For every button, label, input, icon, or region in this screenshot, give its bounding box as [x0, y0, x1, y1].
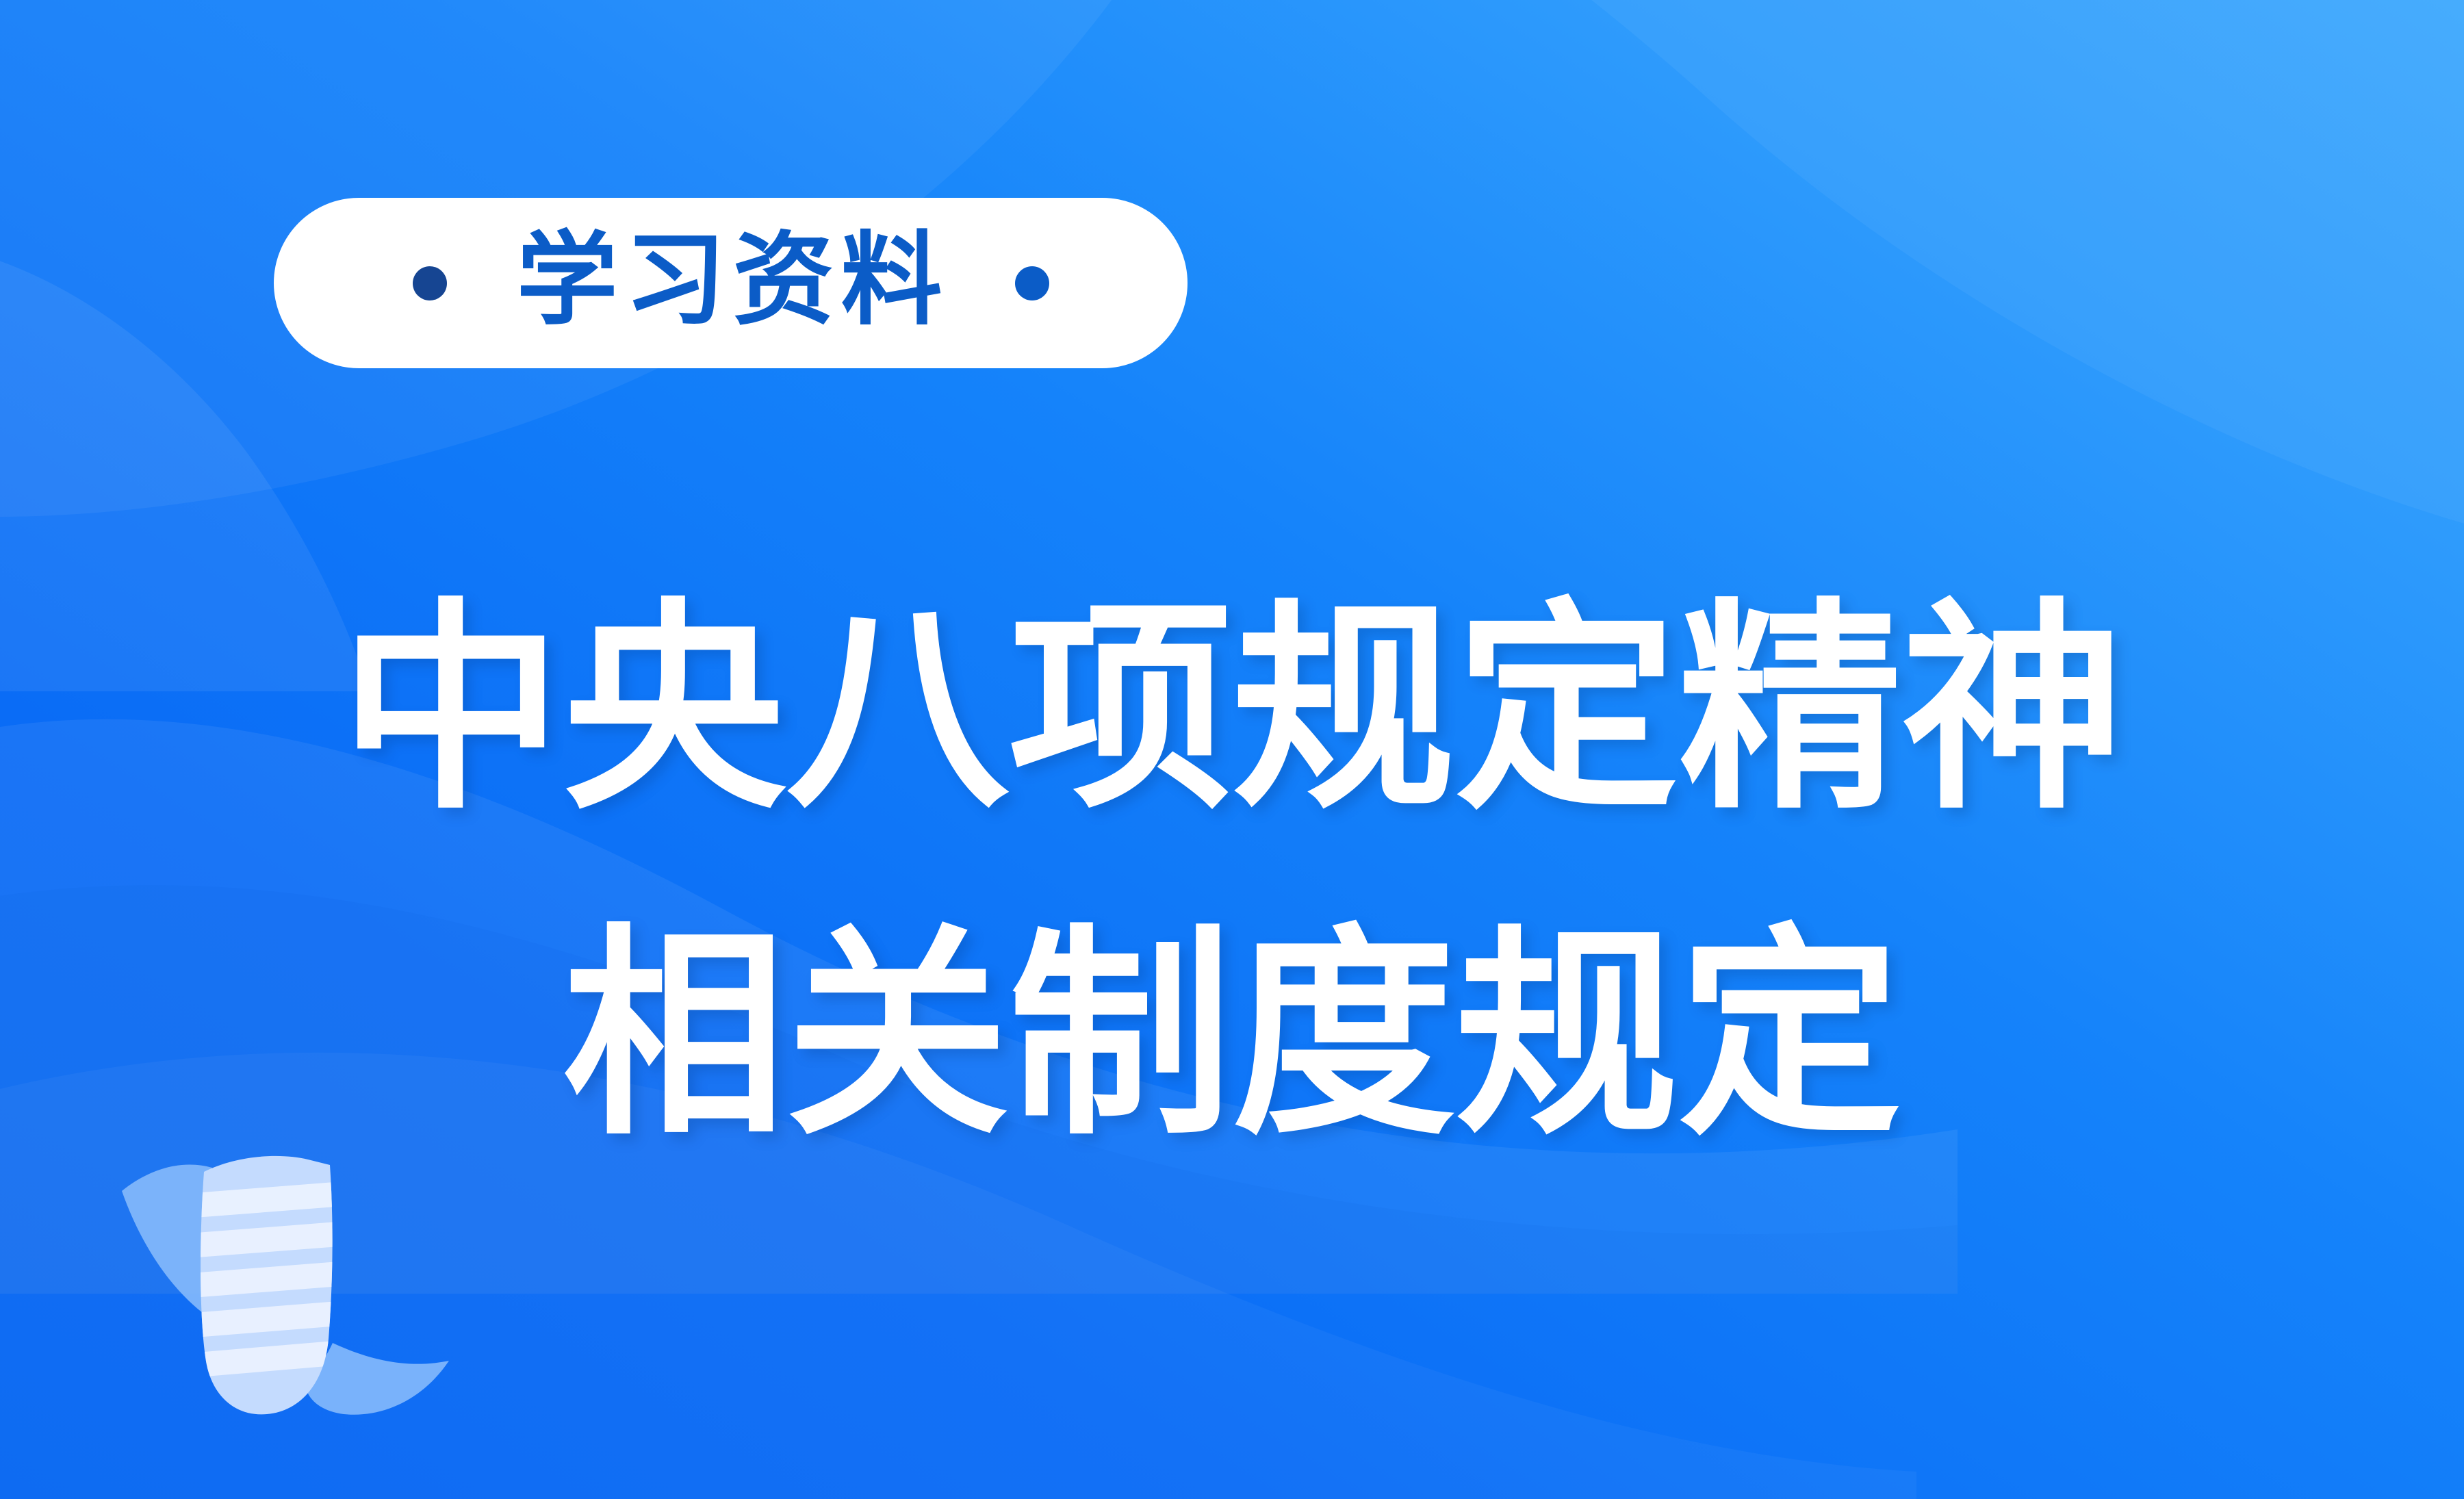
badge-label: 学习资料	[513, 230, 949, 331]
background-wave-top-right	[1218, 0, 2464, 554]
page-title: 中央八项规定精神 相关制度规定	[0, 548, 2464, 1199]
badge-dot-left-icon	[413, 266, 447, 300]
badge-dot-right-icon	[1015, 266, 1049, 300]
study-material-badge: 学习资料	[274, 198, 1188, 368]
headline-line-2: 相关制度规定	[0, 873, 2464, 1199]
headline-line-1: 中央八项规定精神	[0, 548, 2464, 873]
poster-canvas: 学习资料 中央八项规定精神 相关制度规定	[0, 0, 2464, 1499]
